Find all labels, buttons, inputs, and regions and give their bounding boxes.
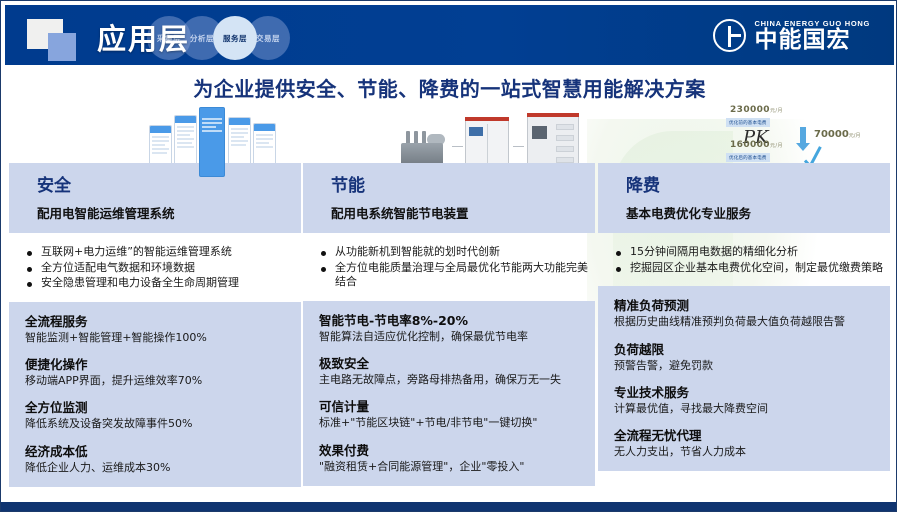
feature-item: 效果付费 "融资租赁+合同能源管理"，企业"零投入" <box>319 440 585 474</box>
feature-item: 便捷化操作 移动端APP界面，提升运维效率70% <box>25 354 291 388</box>
feature-panel-fee-reduction: 精准负荷预测 根据历史曲线精准预判负荷最大值负荷越限告警 负荷越限 预警告警，避… <box>598 286 890 471</box>
bullet-list-safety: 互联网+电力运维”的智能运维管理系统 全方位适配电气数据和环境数据 安全隐患管理… <box>9 233 301 302</box>
feature-desc: 无人力支出，节省人力成本 <box>614 445 880 459</box>
column-fee-reduction: 230000元/月 优化前的基本电费 PK 160000元/月 优化后的基本电费… <box>598 107 890 471</box>
bullet-dot-icon <box>27 251 32 256</box>
column-subtitle: 基本电费优化专业服务 <box>626 203 890 222</box>
bullet-text: 从功能新机到智能就的划时代创新 <box>335 245 500 260</box>
feature-title: 全流程无忧代理 <box>614 425 880 444</box>
feature-desc: 智能算法自适应优化控制，确保最优节电率 <box>319 330 585 344</box>
energy-circle-logo-icon <box>713 19 746 52</box>
feature-item: 全方位监测 降低系统及设备突发故障事件50% <box>25 397 291 431</box>
after-tag: 优化后的基本电费 <box>726 153 770 162</box>
bullet-dot-icon <box>616 251 621 256</box>
square-blue <box>48 33 76 61</box>
feature-title: 负荷越限 <box>614 339 880 358</box>
feature-title: 效果付费 <box>319 440 585 459</box>
bullet-list-fee-reduction: 15分钟间隔用电数据的精细化分析 挖掘园区企业基本电费优化空间，制定最优缴费策略 <box>598 233 890 286</box>
columns-container: 安全 配用电智能运维管理系统 互联网+电力运维”的智能运维管理系统 全方位适配电… <box>1 107 897 505</box>
bullet-list-energy-saving: 从功能新机到智能就的划时代创新 全方位电能质量治理与全局最优化节能两大功能完美结… <box>303 233 595 301</box>
savings-unit: 元/月 <box>849 133 861 139</box>
bullet-text: 互联网+电力运维”的智能运维管理系统 <box>41 245 232 260</box>
feature-title: 经济成本低 <box>25 441 291 460</box>
list-item: 安全隐患管理和电力设备全生命周期管理 <box>27 276 295 291</box>
bullet-dot-icon <box>616 267 621 272</box>
column-title: 节能 <box>331 171 595 196</box>
list-item: 全方位适配电气数据和环境数据 <box>27 261 295 276</box>
column-header-safety: 安全 配用电智能运维管理系统 <box>9 163 301 233</box>
column-safety: 安全 配用电智能运维管理系统 互联网+电力运维”的智能运维管理系统 全方位适配电… <box>9 107 301 487</box>
feature-item: 全流程无忧代理 无人力支出，节省人力成本 <box>614 425 880 459</box>
mobile-app-screens-image <box>9 107 301 163</box>
layer-circle-label: 服务层 <box>223 33 247 44</box>
feature-panel-energy-saving: 智能节电-节电率8%-20% 智能算法自适应优化控制，确保最优节电率 极致安全 … <box>303 301 595 486</box>
bullet-text: 挖掘园区企业基本电费优化空间，制定最优缴费策略 <box>630 261 883 276</box>
feature-item: 经济成本低 降低企业人力、运维成本30% <box>25 441 291 475</box>
feature-desc: 降低系统及设备突发故障事件50% <box>25 417 291 431</box>
feature-desc: 预警告警，避免罚款 <box>614 359 880 373</box>
column-subtitle: 配用电智能运维管理系统 <box>37 203 301 222</box>
feature-desc: 降低企业人力、运维成本30% <box>25 461 291 475</box>
brand-text: CHINA ENERGY GUO HONG 中能国宏 <box>754 19 870 52</box>
list-item: 全方位电能质量治理与全局最优化节能两大功能完美结合 <box>321 261 589 290</box>
bullet-text: 15分钟间隔用电数据的精细化分析 <box>630 245 798 260</box>
column-title: 降费 <box>626 171 890 196</box>
layer-circle-label: 交易层 <box>256 33 280 44</box>
layer-circle-label: 分析层 <box>190 33 214 44</box>
feature-item: 精准负荷预测 根据历史曲线精准预判负荷最大值负荷越限告警 <box>614 295 880 329</box>
feature-item: 全流程服务 智能监测+智能管理+智能操作100% <box>25 311 291 345</box>
down-arrow-icon <box>800 127 806 143</box>
list-item: 挖掘园区企业基本电费优化空间，制定最优缴费策略 <box>616 261 884 276</box>
before-value: 230000元/月 <box>730 105 783 115</box>
column-energy-saving: 节能 配用电系统智能节电装置 从功能新机到智能就的划时代创新 全方位电能质量治理… <box>303 107 595 486</box>
after-value-number: 160000 <box>730 140 770 150</box>
feature-title: 极致安全 <box>319 353 585 372</box>
bullet-dot-icon <box>321 267 326 272</box>
feature-desc: 根据历史曲线精准预判负荷最大值负荷越限告警 <box>614 315 880 329</box>
feature-title: 全方位监测 <box>25 397 291 416</box>
layer-circle-service-active[interactable]: 服务层 <box>213 16 257 60</box>
feature-item: 智能节电-节电率8%-20% 智能算法自适应优化控制，确保最优节电率 <box>319 310 585 344</box>
column-title: 安全 <box>37 171 301 196</box>
after-value-unit: 元/月 <box>770 143 783 149</box>
bullet-dot-icon <box>321 251 326 256</box>
savings-value: 70000元/月 <box>814 129 860 140</box>
pk-comparison-chart: 230000元/月 优化前的基本电费 PK 160000元/月 优化后的基本电费… <box>598 107 890 163</box>
feature-desc: 标准+"节能区块链"+节电/非节电"一键切换" <box>319 416 585 430</box>
feature-item: 可信计量 标准+"节能区块链"+节电/非节电"一键切换" <box>319 396 585 430</box>
bullet-dot-icon <box>27 282 32 287</box>
brand-chinese-name: 中能国宏 <box>754 29 870 52</box>
feature-title: 便捷化操作 <box>25 354 291 373</box>
connector-dash <box>452 146 463 148</box>
feature-desc: "融资租赁+合同能源管理"，企业"零投入" <box>319 460 585 474</box>
column-header-fee-reduction: 降费 基本电费优化专业服务 <box>598 163 890 233</box>
list-item: 互联网+电力运维”的智能运维管理系统 <box>27 245 295 260</box>
before-tag: 优化前的基本电费 <box>726 118 770 127</box>
feature-item: 专业技术服务 计算最优值，寻找最大降费空间 <box>614 382 880 416</box>
feature-item: 负荷越限 预警告警，避免罚款 <box>614 339 880 373</box>
bullet-text: 全方位电能质量治理与全局最优化节能两大功能完美结合 <box>335 261 589 290</box>
column-header-energy-saving: 节能 配用电系统智能节电装置 <box>303 163 595 233</box>
feature-title: 智能节电-节电率8%-20% <box>319 310 585 329</box>
phone-screen-featured <box>199 107 225 177</box>
feature-desc: 计算最优值，寻找最大降费空间 <box>614 402 880 416</box>
brand-logo: CHINA ENERGY GUO HONG 中能国宏 <box>713 15 870 55</box>
bullet-text: 安全隐患管理和电力设备全生命周期管理 <box>41 276 239 291</box>
column-subtitle: 配用电系统智能节电装置 <box>331 203 595 222</box>
feature-desc: 智能监测+智能管理+智能操作100% <box>25 331 291 345</box>
feature-desc: 移动端APP界面，提升运维效率70% <box>25 374 291 388</box>
after-value: 160000元/月 <box>730 140 783 150</box>
list-item: 15分钟间隔用电数据的精细化分析 <box>616 245 884 260</box>
feature-desc: 主电路无故障点，旁路母排热备用，确保万无一失 <box>319 373 585 387</box>
slide-root: 采集层 分析层 服务层 交易层 应用层 CHINA ENERGY GUO HON… <box>0 0 897 512</box>
savings-number: 70000 <box>814 129 849 140</box>
feature-title: 精准负荷预测 <box>614 295 880 314</box>
list-item: 从功能新机到智能就的划时代创新 <box>321 245 589 260</box>
feature-item: 极致安全 主电路无故障点，旁路母排热备用，确保万无一失 <box>319 353 585 387</box>
before-value-number: 230000 <box>730 105 770 115</box>
connector-dash <box>513 146 524 148</box>
header-title: 应用层 <box>97 16 190 58</box>
two-squares-icon <box>27 19 87 61</box>
feature-title: 全流程服务 <box>25 311 291 330</box>
feature-panel-safety: 全流程服务 智能监测+智能管理+智能操作100% 便捷化操作 移动端APP界面，… <box>9 302 301 487</box>
feature-title: 专业技术服务 <box>614 382 880 401</box>
power-equipment-image <box>303 107 595 163</box>
feature-title: 可信计量 <box>319 396 585 415</box>
page-title: 为企业提供安全、节能、降费的一站式智慧用能解决方案 <box>1 73 897 102</box>
bullet-dot-icon <box>27 267 32 272</box>
before-value-unit: 元/月 <box>770 108 783 114</box>
bullet-text: 全方位适配电气数据和环境数据 <box>41 261 195 276</box>
header-bar: 采集层 分析层 服务层 交易层 应用层 CHINA ENERGY GUO HON… <box>5 5 894 65</box>
